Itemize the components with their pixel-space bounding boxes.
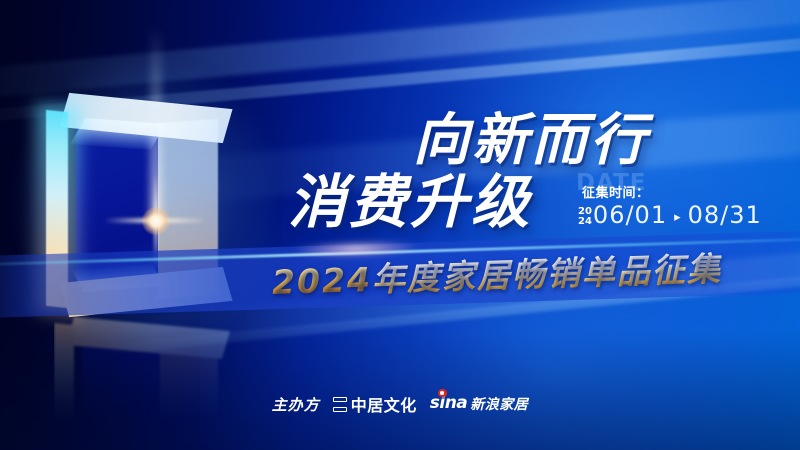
sina-wordmark: sina (430, 395, 468, 413)
headline-line-1: 向新而行 (413, 113, 649, 169)
light-streak (376, 0, 800, 90)
portal-left-edge (46, 110, 68, 308)
subtitle-text: 年度家居畅销单品征集 (371, 249, 722, 299)
portal-graphic (46, 95, 232, 313)
organizer-logo[interactable]: 中居文化 (333, 392, 417, 416)
subtitle-year: 2024 (271, 260, 372, 302)
double-bar-square-icon (333, 397, 347, 412)
sina-word: sina (430, 393, 468, 413)
headline-line-2: 消费升级 (288, 173, 532, 231)
date-label: 征集时间： (582, 182, 650, 201)
date-year: 20 24 (578, 207, 592, 227)
sponsor-row: 主办方 中居文化 sina 新浪家居 (0, 392, 800, 416)
date-end: 08/31 (688, 203, 762, 227)
promo-banner: 向新而行 消费升级 DATE 征集时间： 20 24 06/01 ▸ 08/31… (0, 0, 800, 450)
subtitle: 2024年度家居畅销单品征集 (272, 251, 723, 301)
date-range-row: 20 24 06/01 ▸ 08/31 (578, 203, 762, 227)
sina-eye-icon (438, 389, 447, 397)
media-partner-name: 新浪家居 (470, 394, 528, 414)
subtitle-band-hotspot (296, 239, 416, 259)
date-year-bottom: 24 (578, 217, 592, 227)
sponsor-label: 主办方 (272, 394, 320, 415)
date-start: 06/01 (593, 203, 667, 227)
organizer-name: 中居文化 (351, 392, 417, 416)
media-partner-logo[interactable]: sina 新浪家居 (430, 394, 529, 414)
arrow-right-icon: ▸ (674, 210, 681, 223)
star-flare-icon (142, 207, 170, 235)
